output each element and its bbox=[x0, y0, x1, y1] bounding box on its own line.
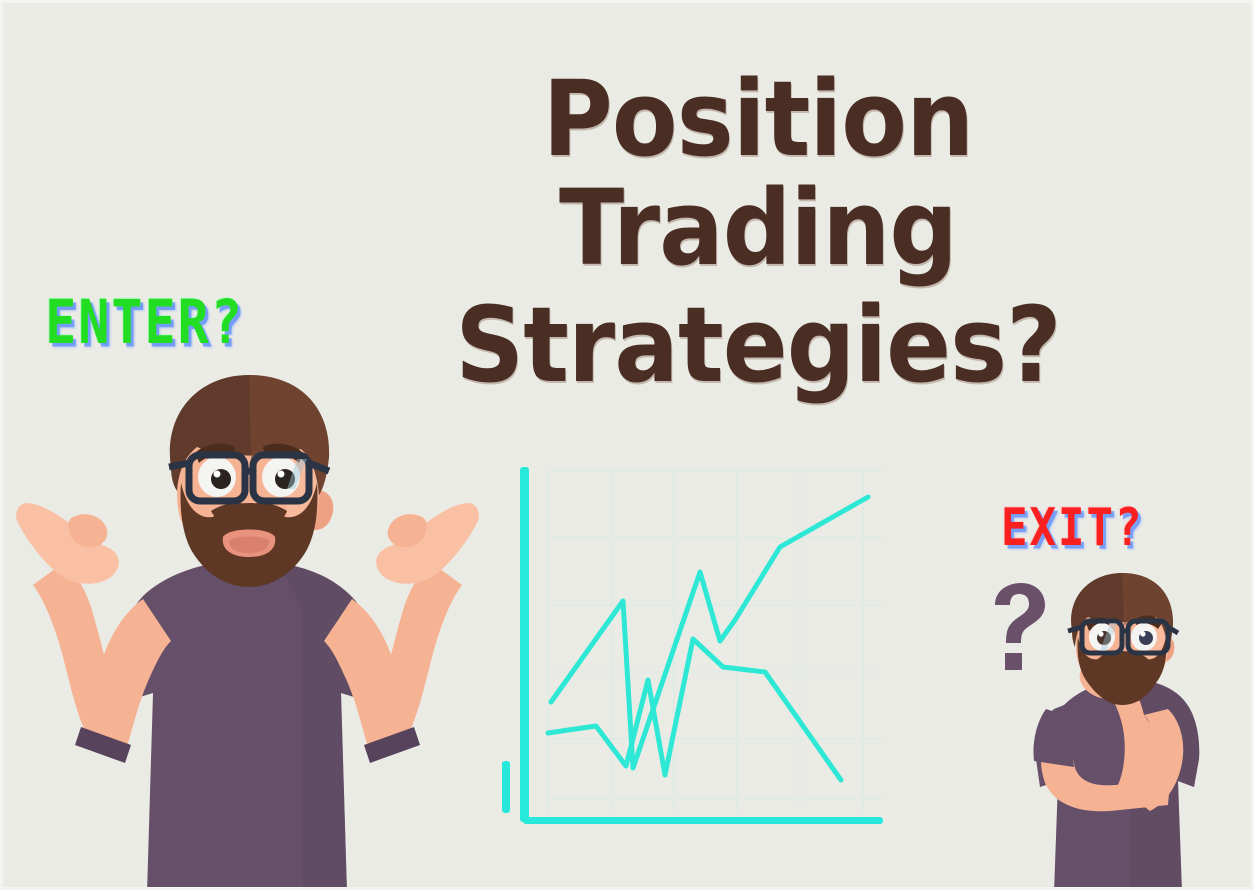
line-chart bbox=[493, 453, 903, 843]
moustache bbox=[1098, 653, 1148, 668]
left-hand bbox=[16, 503, 119, 584]
thinking-man-illustration bbox=[1018, 573, 1208, 890]
page-title-line-1: Position Trading bbox=[330, 65, 1186, 283]
chart-gridlines bbox=[548, 471, 883, 813]
exit-label: EXIT? bbox=[1001, 497, 1144, 557]
chart-y-axis-tick bbox=[502, 761, 510, 813]
right-hand bbox=[376, 503, 479, 584]
eye-left-pupil bbox=[211, 469, 231, 489]
eye-right-glint bbox=[278, 471, 285, 478]
eye-right-glint bbox=[1140, 631, 1145, 636]
chart-series-b bbox=[548, 639, 841, 780]
page-title: Position Trading Strategies? bbox=[293, 65, 1223, 401]
poster-canvas: Position Trading Strategies? ENTER? EXIT… bbox=[0, 0, 1254, 890]
eye-left-glint bbox=[214, 471, 221, 478]
eye-left-glint bbox=[1098, 631, 1103, 636]
chart-svg bbox=[493, 453, 903, 843]
enter-label: ENTER? bbox=[45, 287, 244, 358]
moustache bbox=[211, 503, 287, 525]
chart-x-axis bbox=[523, 817, 883, 824]
chart-y-axis bbox=[520, 467, 529, 822]
shrugging-man-illustration bbox=[11, 371, 481, 890]
